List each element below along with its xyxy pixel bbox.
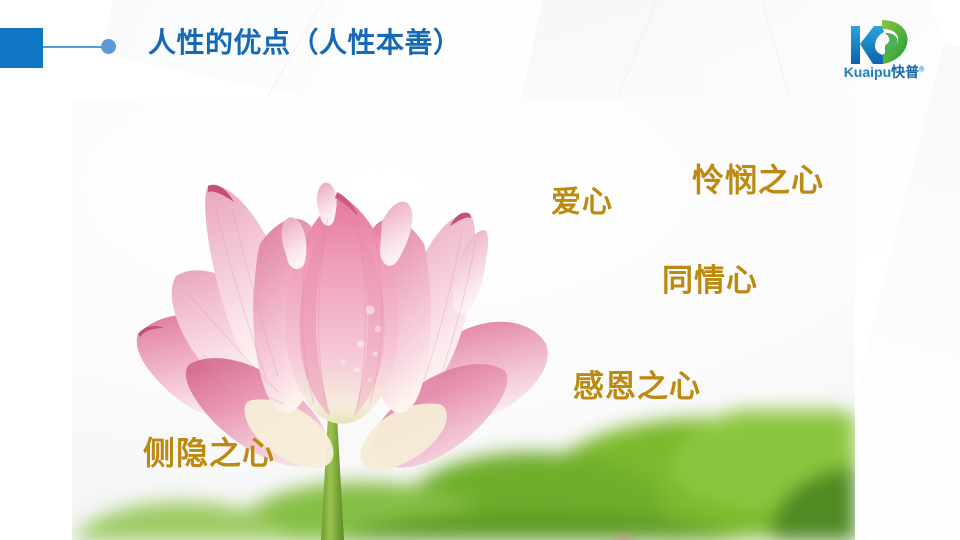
label-aixin: 爱心	[551, 177, 613, 221]
lotus-flower-illustration	[132, 148, 552, 540]
title-accent-block	[0, 28, 43, 68]
kuaipu-k-logo-mark-icon	[848, 20, 922, 64]
title-accent-line	[43, 46, 105, 48]
label-lianmin: 怜悯之心	[692, 155, 824, 201]
logo-wordmark: Kuaipu快普®	[830, 62, 938, 82]
label-ceyin: 侧隐之心	[143, 428, 275, 474]
page-title: 人性的优点（人性本善）	[148, 23, 462, 64]
label-ganen: 感恩之心	[573, 361, 701, 406]
title-accent-dot	[101, 39, 116, 54]
company-logo: Kuaipu快普®	[830, 20, 938, 82]
slide-canvas: 人性的优点（人性本善）	[0, 0, 960, 540]
label-tongqing: 同情心	[662, 255, 758, 300]
logo-chinese: 快普	[891, 64, 919, 80]
logo-latin: Kuaipu	[844, 64, 891, 80]
logo-registered-mark: ®	[919, 66, 924, 73]
